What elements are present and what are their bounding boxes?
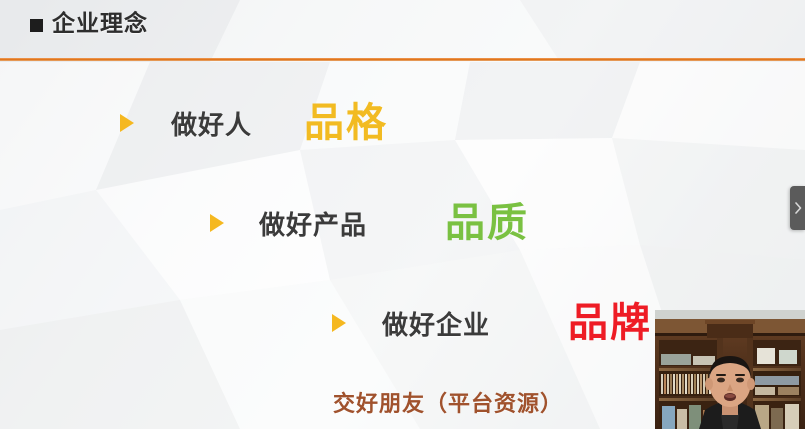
concept-label-2: 做好产品 xyxy=(259,205,367,242)
triangle-bullet-icon xyxy=(332,314,346,332)
page-title-text: 企业理念 xyxy=(52,12,148,35)
concept-row-2: 做好产品 品质 xyxy=(210,203,529,243)
concept-row-1: 做好人 品格 xyxy=(120,103,388,143)
triangle-bullet-icon xyxy=(120,114,134,132)
concept-row-3: 做好企业 品牌 xyxy=(332,303,652,343)
chevron-right-icon xyxy=(794,202,802,214)
triangle-bullet-icon xyxy=(210,214,224,232)
concept-keyword-2: 品质 xyxy=(445,203,529,243)
sidebar-expand-button[interactable] xyxy=(790,186,805,230)
slide-header: 企业理念 xyxy=(0,0,805,62)
presentation-viewer: 企业理念 做好人 品格 做好产品 品质 做好企业 品牌 交好朋友（平台资源） xyxy=(0,0,805,429)
square-bullet-icon xyxy=(30,19,43,32)
concept-keyword-1: 品格 xyxy=(304,103,388,143)
concept-keyword-3: 品牌 xyxy=(568,303,652,343)
concept-label-1: 做好人 xyxy=(171,105,252,142)
presenter-video-frame xyxy=(655,310,805,429)
concept-label-3: 做好企业 xyxy=(382,305,490,342)
presenter-video-overlay[interactable] xyxy=(655,310,805,429)
footer-note: 交好朋友（平台资源） xyxy=(333,386,563,418)
page-title: 企业理念 xyxy=(30,12,148,35)
header-divider xyxy=(0,58,805,61)
